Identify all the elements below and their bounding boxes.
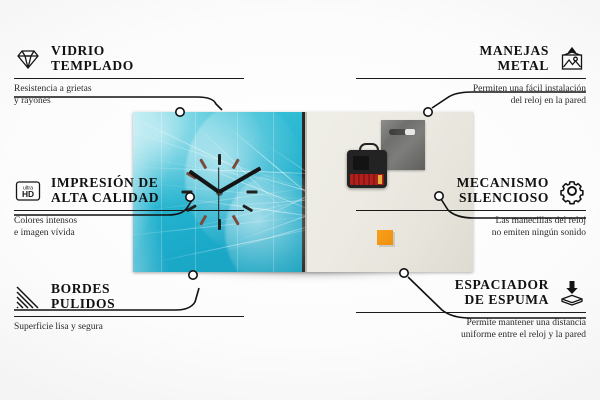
ultra-hd-icon: ultra HD (14, 177, 42, 205)
callout-description: Permiten una fácil instalación del reloj… (356, 84, 586, 107)
callout-mecanismo-silencioso: MECANISMO SILENCIOSO Las manecillas del … (356, 176, 586, 239)
callout-description: Resistencia a grietas y rayones (14, 84, 244, 107)
gear-icon (558, 177, 586, 205)
diamond-icon (14, 45, 42, 73)
callout-manejas-metal: MANEJAS METAL Permiten una fácil instala… (356, 44, 586, 107)
callout-title: BORDES PULIDOS (51, 282, 115, 311)
metal-hanger (381, 120, 425, 170)
infographic-stage: VIDRIO TEMPLADO Resistencia a grietas y … (0, 0, 600, 400)
callout-description: Colores intensos e imagen vívida (14, 216, 244, 239)
callout-title: IMPRESIÓN DE ALTA CALIDAD (51, 176, 159, 205)
callout-description: Permite mantener una distancia uniforme … (356, 318, 586, 341)
polished-edges-icon (14, 283, 42, 311)
callout-bordes-pulidos: BORDES PULIDOS Superficie lisa y segura (14, 282, 244, 334)
callout-title: MECANISMO SILENCIOSO (457, 176, 549, 205)
callout-rule (14, 78, 244, 79)
callout-rule (356, 312, 586, 313)
hanger-slot (389, 129, 415, 135)
svg-text:HD: HD (22, 189, 34, 199)
callout-rule (14, 210, 244, 211)
callout-espaciador-espuma: ESPACIADOR DE ESPUMA Permite mantener un… (356, 278, 586, 341)
callout-title: MANEJAS METAL (480, 44, 549, 73)
callout-rule (356, 210, 586, 211)
callout-description: Las manecillas del reloj no emiten ningú… (356, 216, 586, 239)
hanger-loop (359, 143, 379, 154)
callout-rule (356, 78, 586, 79)
callout-vidrio-templado: VIDRIO TEMPLADO Resistencia a grietas y … (14, 44, 244, 107)
callout-title: VIDRIO TEMPLADO (51, 44, 134, 73)
callout-description: Superficie lisa y segura (14, 322, 244, 334)
press-down-icon (558, 279, 586, 307)
callout-rule (14, 316, 244, 317)
movement-slot (353, 156, 369, 170)
wall-hanging-icon (558, 45, 586, 73)
callout-title: ESPACIADOR DE ESPUMA (455, 278, 549, 307)
callout-impresion-alta-calidad: ultra HD IMPRESIÓN DE ALTA CALIDAD Color… (14, 176, 244, 239)
